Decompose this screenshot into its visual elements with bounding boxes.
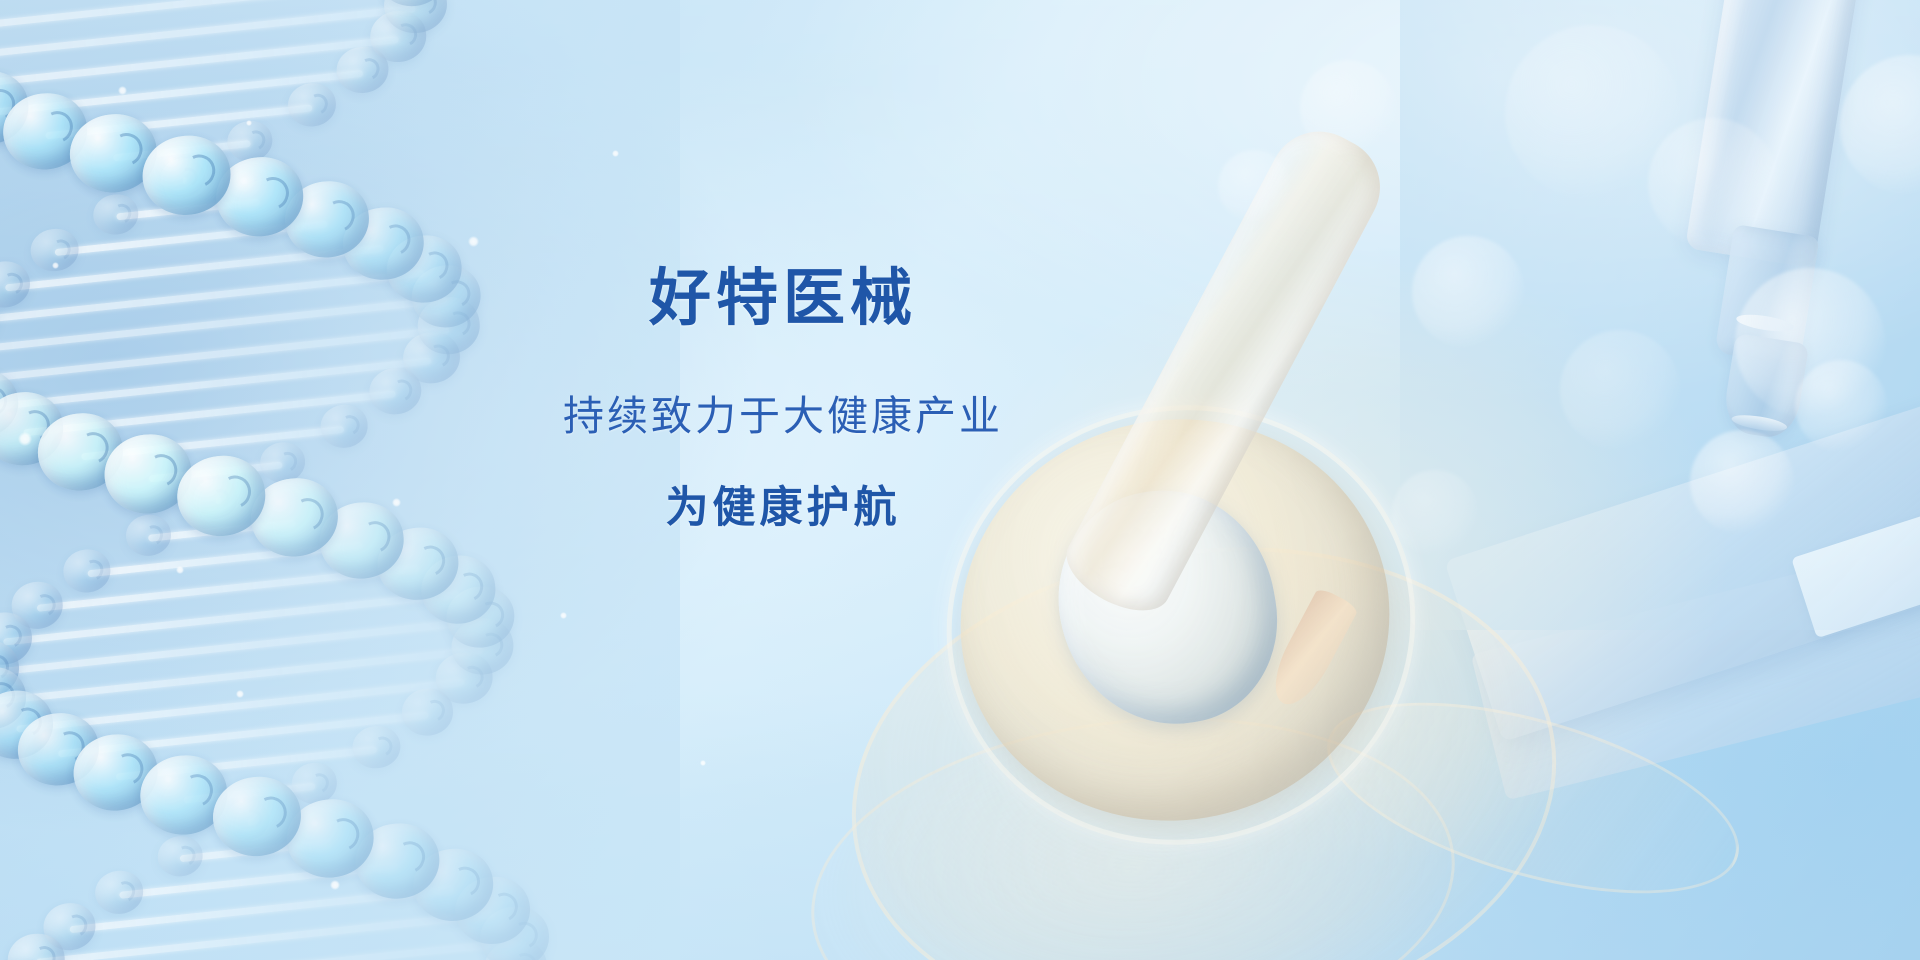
dna-nucleotide [351,819,443,903]
dna-rung [183,177,187,184]
dna-rung [0,618,481,677]
dna-nucleotide [286,81,338,128]
dna-nucleotide [69,730,161,815]
dna-nucleotide [409,845,496,925]
pipette-tip [1263,586,1360,714]
dna-nucleotide [448,616,516,678]
dna-nucleotide [443,583,518,652]
glass-tube [1307,664,1759,931]
dna-rung [58,712,428,758]
light-sparkle [700,760,706,766]
light-sparkle [246,120,252,126]
dna-nucleotide [482,937,550,960]
dna-rung [113,140,251,161]
brand-tagline: 为健康护航 [666,487,901,530]
dna-nucleotide [14,709,102,790]
dna-nucleotide [5,931,67,960]
dna-nucleotide [9,580,65,632]
dna-rung [0,5,416,64]
dna-rung [116,747,377,781]
dna-nucleotide [351,724,402,771]
light-sparkle [612,150,619,157]
light-sparkle [118,86,127,95]
dna-nucleotide [209,773,305,861]
dna-nucleotide [0,89,91,174]
brand-subtitle: 持续致力于大健康产业 [563,396,1003,437]
dna-nucleotide [93,868,145,916]
dna-nucleotide [281,177,373,261]
dna-nucleotide [375,0,450,10]
petri-dish-lower [794,687,1472,960]
dna-nucleotide [381,0,449,36]
dna-rung [0,0,413,35]
dna-rung [87,542,363,578]
dna-rung [36,911,494,960]
bokeh-circle [1300,60,1396,156]
dna-nucleotide [374,524,461,604]
light-sparkle [176,566,184,574]
dna-nucleotide [283,795,378,882]
dna-rung [0,0,390,3]
dna-rung [184,783,315,804]
dna-nucleotide [138,131,234,219]
dna-nucleotide [159,156,207,200]
dna-rung [0,36,399,90]
dna-rung [247,818,258,826]
dna-nucleotide [0,687,57,762]
dna-nucleotide [290,761,339,806]
dna-rung [37,565,419,612]
dna-nucleotide [66,110,161,197]
dna-nucleotide [0,638,21,701]
dna-nucleotide [61,547,113,595]
light-sparkle [468,236,479,247]
dna-rung [119,862,398,898]
dna-nucleotide [223,798,271,842]
dna-nucleotide [0,68,32,148]
light-sparkle [560,612,567,619]
dna-nucleotide [156,834,205,879]
dna-rung [45,104,312,139]
dna-nucleotide [433,650,494,706]
brand-title: 好特医械 [649,268,917,330]
dna-nucleotide [400,686,456,737]
dna-nucleotide [477,904,552,960]
dna-rung [21,938,515,960]
dna-rung [70,886,454,933]
dna-rung [3,590,459,645]
dna-rung [180,840,331,863]
dna-nucleotide [136,751,231,838]
dna-nucleotide [0,610,34,667]
dna-rung [0,70,363,116]
dna-nucleotide [212,154,307,241]
dna-nucleotide [42,901,99,953]
hero-text-block: 好特医械 持续致力于大健康产业 为健康护航 [0,268,1743,530]
dna-nucleotide [367,8,429,65]
dna-nucleotide [92,192,141,237]
dna-rung [116,198,260,220]
light-sparkle [236,690,244,698]
dna-nucleotide [418,552,499,627]
dna-nucleotide [452,873,533,948]
dna-rung [55,221,328,257]
dna-nucleotide [0,663,29,732]
hero-banner: 好特医械 持续致力于大健康产业 为健康护航 [0,0,1920,960]
bokeh-circle [1218,150,1290,222]
dna-rung [16,678,465,732]
light-sparkle [330,880,340,890]
dna-nucleotide [335,44,391,95]
